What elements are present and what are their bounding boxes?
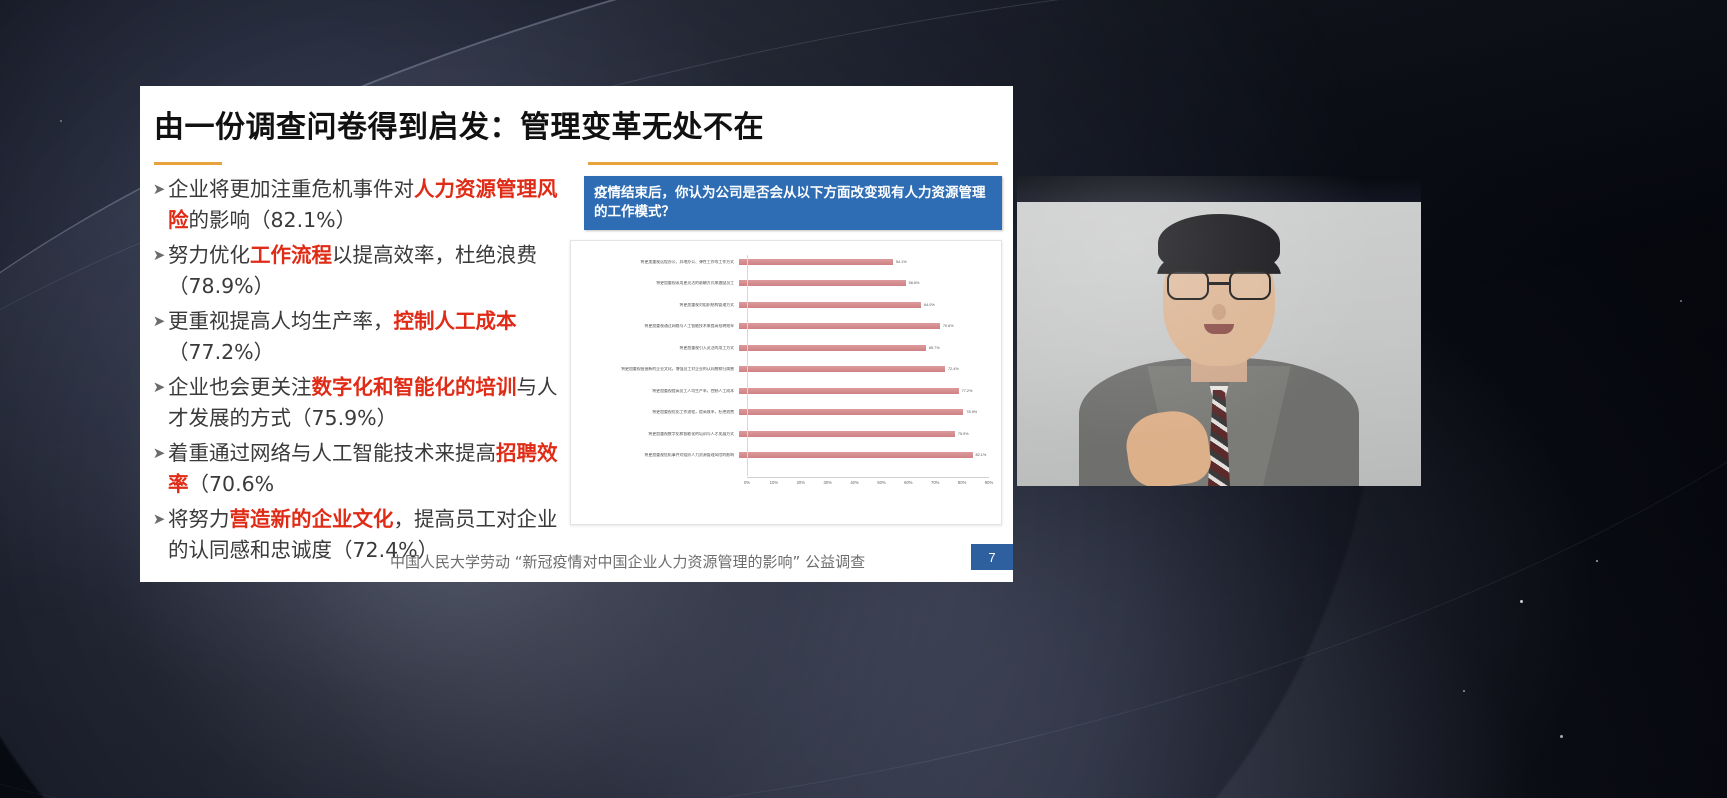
bullet-text: 企业也会更关注数字化和智能化的培训与人才发展的方式（75.9%） [168, 372, 570, 434]
chart-bar-track: 82.1% [739, 445, 995, 467]
bullet-highlight: 营造新的企业文化 [230, 507, 394, 531]
chart-category-label: 将更加重视数字化和智能化的培训与人才发展方式 [579, 432, 739, 436]
chart-category-label: 将更加重视引入灵活的用工方式 [579, 346, 739, 350]
bullet-list: ➤企业将更加注重危机事件对人力资源管理风险的影响（82.1%）➤努力优化工作流程… [150, 174, 570, 570]
chart-bar-track: 54.1% [739, 251, 995, 273]
chart-bar [739, 280, 906, 286]
bullet-plain: 企业将更加注重危机事件对 [168, 177, 414, 201]
chart-bar [739, 452, 973, 458]
chart-x-tick: 90% [985, 480, 993, 485]
bullet-plain: （70.6% [189, 472, 275, 496]
chart-bar-value: 78.9% [963, 410, 977, 414]
chart-bar-value: 64.0% [921, 303, 935, 307]
chart-bar-row: 将更加重视营造新的企业文化，增强员工对企业的认同感和归属感72.4% [579, 359, 995, 381]
slide-source-citation: 中国人民大学劳动 “新冠疫情对中国企业人力资源管理的影响” 公益调查 [390, 551, 865, 572]
chart-bar [739, 409, 963, 415]
chart-bar-row: 将更加重视危机事件对组织人力资源管理风险的影响82.1% [579, 445, 995, 467]
chart-x-tick: 30% [823, 480, 831, 485]
bar-chart: 将更加重视远程办公、异地办公、弹性工作等工作方式54.1%将更加重视采用更灵活的… [570, 240, 1002, 525]
chart-bar-value: 70.6% [940, 324, 954, 328]
bullet-marker-icon: ➤ [150, 240, 168, 271]
chart-card: 疫情结束后，你认为公司是否会从以下方面改变现有人力资源管理的工作模式？ 将更加重… [570, 176, 1002, 538]
star-icon [1463, 690, 1465, 692]
accent-rule-left [154, 162, 222, 165]
chart-bar [739, 431, 955, 437]
chart-category-label: 将更加重视危机事件对组织人力资源管理风险的影响 [579, 453, 739, 457]
chart-x-axis [747, 477, 989, 478]
chart-x-tick: 0% [744, 480, 750, 485]
bullet-text: 着重通过网络与人工智能技术来提高招聘效率（70.6% [168, 438, 570, 500]
chart-y-axis [747, 255, 748, 476]
chart-x-tick: 70% [931, 480, 939, 485]
chart-bar [739, 366, 945, 372]
chart-bar-value: 82.1% [973, 453, 987, 457]
chart-bar-row: 将更加重视数字化和智能化的培训与人才发展方式75.9% [579, 423, 995, 445]
chart-bar-value: 58.6% [906, 281, 920, 285]
screen-capture: 由一份调查问卷得到启发：管理变革无处不在 ➤企业将更加注重危机事件对人力资源管理… [0, 0, 1727, 798]
chart-x-tick: 50% [877, 480, 885, 485]
chart-category-label: 将更加重视提高员工人均生产率，控制人工成本 [579, 389, 739, 393]
bullet-plain: 将努力 [168, 507, 230, 531]
bullet-text: 努力优化工作流程以提高效率，杜绝浪费（78.9%） [168, 240, 570, 302]
chart-bar-track: 72.4% [739, 359, 995, 381]
video-lighting-overlay [1017, 176, 1421, 486]
chart-x-tick-labels: 0%10%20%30%40%50%60%70%80%90% [747, 480, 989, 494]
chart-bar [739, 302, 921, 308]
bullet-plain: （77.2%） [168, 340, 274, 364]
bullet-plain: 企业也会更关注 [168, 375, 312, 399]
bullet-item: ➤企业也会更关注数字化和智能化的培训与人才发展的方式（75.9%） [150, 372, 570, 434]
bullet-text: 企业将更加注重危机事件对人力资源管理风险的影响（82.1%） [168, 174, 570, 236]
chart-bar-row: 将更加重视对组织结构管理方式64.0% [579, 294, 995, 316]
chart-bar-track: 64.0% [739, 294, 995, 316]
slide-page-number: 7 [971, 544, 1013, 570]
bullet-highlight: 数字化和智能化的培训 [312, 375, 517, 399]
star-icon [60, 120, 62, 122]
bullet-marker-icon: ➤ [150, 174, 168, 205]
chart-plot-area: 将更加重视远程办公、异地办公、弹性工作等工作方式54.1%将更加重视采用更灵活的… [579, 251, 995, 498]
chart-bar-row: 将更加重视提高员工人均生产率，控制人工成本77.2% [579, 380, 995, 402]
chart-bar-row: 将更加重视通过网络与人工智能技术来提高招聘效率70.6% [579, 316, 995, 338]
bullet-marker-icon: ➤ [150, 306, 168, 337]
chart-category-label: 将更加重视对组织结构管理方式 [579, 303, 739, 307]
bullet-item: ➤努力优化工作流程以提高效率，杜绝浪费（78.9%） [150, 240, 570, 302]
chart-bar-value: 77.2% [959, 389, 973, 393]
chart-bar-track: 58.6% [739, 273, 995, 295]
chart-x-tick: 80% [958, 480, 966, 485]
bullet-text: 更重视提高人均生产率，控制人工成本（77.2%） [168, 306, 570, 368]
bullet-item: ➤着重通过网络与人工智能技术来提高招聘效率（70.6% [150, 438, 570, 500]
bullet-marker-icon: ➤ [150, 372, 168, 403]
bullet-marker-icon: ➤ [150, 504, 168, 535]
chart-bar-track: 65.7% [739, 337, 995, 359]
chart-bar-row: 将更加重视采用更灵活的薪酬方式来激励员工58.6% [579, 273, 995, 295]
video-participant-tile[interactable] [1017, 176, 1421, 486]
chart-x-tick: 40% [850, 480, 858, 485]
chart-bar [739, 388, 959, 394]
chart-category-label: 将更加重视远程办公、异地办公、弹性工作等工作方式 [579, 260, 739, 264]
slide-title: 由一份调查问卷得到启发：管理变革无处不在 [154, 102, 764, 146]
chart-bar [739, 259, 893, 265]
chart-bar-track: 75.9% [739, 423, 995, 445]
bullet-highlight: 工作流程 [250, 243, 332, 267]
chart-bar-track: 70.6% [739, 316, 995, 338]
chart-bar-track: 78.9% [739, 402, 995, 424]
chart-bar-value: 54.1% [893, 260, 907, 264]
bullet-marker-icon: ➤ [150, 438, 168, 469]
chart-question-banner: 疫情结束后，你认为公司是否会从以下方面改变现有人力资源管理的工作模式？ [584, 176, 1002, 230]
star-icon [1596, 560, 1598, 562]
chart-bar-value: 72.4% [945, 367, 959, 371]
star-icon [1520, 600, 1523, 603]
accent-rule-right [588, 162, 998, 165]
chart-category-label: 将更加重视通过网络与人工智能技术来提高招聘效率 [579, 324, 739, 328]
chart-category-label: 将更加重视采用更灵活的薪酬方式来激励员工 [579, 281, 739, 285]
chart-bar [739, 323, 940, 329]
chart-category-label: 将更加重视营造新的企业文化，增强员工对企业的认同感和归属感 [579, 367, 739, 371]
star-icon [1560, 735, 1563, 738]
chart-bar-row: 将更加重视引入灵活的用工方式65.7% [579, 337, 995, 359]
chart-x-tick: 60% [904, 480, 912, 485]
chart-x-tick: 20% [797, 480, 805, 485]
chart-x-tick: 10% [770, 480, 778, 485]
bullet-highlight: 控制人工成本 [394, 309, 517, 333]
bullet-plain: 努力优化 [168, 243, 250, 267]
chart-bar-value: 65.7% [926, 346, 940, 350]
bullet-plain: 的影响（82.1%） [189, 208, 357, 232]
star-icon [1680, 300, 1682, 302]
bullet-plain: 更重视提高人均生产率， [168, 309, 394, 333]
chart-bar-track: 77.2% [739, 380, 995, 402]
bullet-item: ➤企业将更加注重危机事件对人力资源管理风险的影响（82.1%） [150, 174, 570, 236]
chart-bar-row: 将更加重视优化工作流程，提高效率，杜绝浪费78.9% [579, 402, 995, 424]
chart-bar-value: 75.9% [955, 432, 969, 436]
chart-category-label: 将更加重视优化工作流程，提高效率，杜绝浪费 [579, 410, 739, 414]
bullet-plain: 着重通过网络与人工智能技术来提高 [168, 441, 496, 465]
chart-bar-row: 将更加重视远程办公、异地办公、弹性工作等工作方式54.1% [579, 251, 995, 273]
presentation-slide: 由一份调查问卷得到启发：管理变革无处不在 ➤企业将更加注重危机事件对人力资源管理… [140, 86, 1013, 582]
bullet-item: ➤更重视提高人均生产率，控制人工成本（77.2%） [150, 306, 570, 368]
chart-bar [739, 345, 926, 351]
